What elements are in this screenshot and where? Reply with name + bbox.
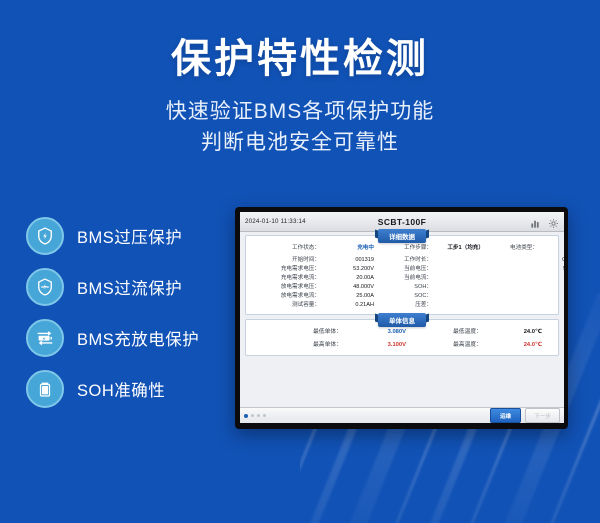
page-subtitle: 快速验证BMS各项保护功能 判断电池安全可靠性 (0, 96, 600, 158)
charge-discharge-icon (26, 319, 64, 357)
feature-item-soh: SOH准确性 (26, 366, 241, 411)
table-row: 测试容量： 0.21AH 压差： 10mV (250, 301, 554, 310)
cell-label: 最低单体： (250, 328, 346, 337)
primary-action-button[interactable]: 运维 (490, 408, 521, 423)
cell-value: 53.200V (324, 265, 376, 274)
cell-value: 工步1（均充） (436, 244, 486, 253)
cell-value: 24.0℃ (486, 328, 544, 337)
cell-label: 充电需求电流： (250, 274, 324, 283)
page-dot-active[interactable] (244, 414, 248, 418)
secondary-action-button[interactable]: 下一步 (525, 408, 560, 423)
cell-value: 30% (542, 292, 564, 301)
cell-info-panel: 单体信息 最低单体： 3.080V 最低温度： 24.0℃ 最高单体： 3.10… (245, 319, 559, 356)
page-indicator[interactable] (244, 414, 266, 418)
cell-value: 20.00A (542, 274, 564, 283)
screen-body: 详细数据 工作状态： 充电中 工作步骤： 工步1（均充） 电池类型： US 开始… (240, 232, 564, 407)
cell-panel-tab[interactable]: 单体信息 (378, 313, 426, 327)
cell-label: 测试容量： (250, 301, 324, 310)
cell-value: 25.00A (324, 292, 376, 301)
device-tablet: 2024-01-10 11:33:14 SCBT-100F (235, 207, 568, 429)
header-icons (530, 216, 559, 227)
cell-value: 3.080V (346, 328, 408, 337)
shield-voltage-icon (26, 217, 64, 255)
detail-panel-tab[interactable]: 详细数据 (378, 229, 426, 243)
cell-label: 电池类型： (486, 244, 542, 253)
cell-label: SOC： (376, 292, 436, 301)
cell-value: US (542, 244, 564, 253)
table-row: 充电需求电流： 20.00A 当前电流： 20.00A (250, 274, 554, 283)
cell-value: 20.00A (324, 274, 376, 283)
table-row: 充电需求电压： 53.200V 当前电压： 53.340V (250, 265, 554, 274)
table-row: 最低单体： 3.080V 最低温度： 24.0℃ (250, 328, 554, 337)
cell-label: 当前电压： (376, 265, 436, 274)
detail-data-panel: 详细数据 工作状态： 充电中 工作步骤： 工步1（均充） 电池类型： US 开始… (245, 235, 559, 315)
table-row: 开始时间： 001319 工作时长： 00:03:54 (250, 256, 554, 265)
table-row: 工作状态： 充电中 工作步骤： 工步1（均充） 电池类型： US (250, 244, 554, 253)
cell-label: 最高单体： (250, 341, 346, 350)
gear-icon[interactable] (548, 216, 559, 227)
cell-label: 最低温度： (408, 328, 486, 337)
cell-label: 放电需求电流： (250, 292, 324, 301)
shield-current-icon (26, 268, 64, 306)
bar-chart-icon[interactable] (530, 216, 541, 227)
table-row: 放电需求电压： 48.000V SOH： 30% (250, 283, 554, 292)
cell-label: 压差： (376, 301, 436, 310)
screen-footer: 运维 下一步 (240, 407, 564, 423)
subtitle-line-2: 判断电池安全可靠性 (0, 127, 600, 158)
feature-item-charge-discharge: BMS充放电保护 (26, 315, 241, 360)
battery-icon (26, 370, 64, 408)
device-model: SCBT-100F (240, 217, 564, 227)
cell-value: 48.000V (324, 283, 376, 292)
cell-label: 工作时长： (376, 256, 436, 265)
device-screen: 2024-01-10 11:33:14 SCBT-100F (240, 212, 564, 423)
feature-list: BMS过压保护 BMS过流保护 (26, 213, 241, 417)
cell-value: 0.21AH (324, 301, 376, 310)
cell-label: SOH： (376, 283, 436, 292)
feature-item-overvoltage: BMS过压保护 (26, 213, 241, 258)
feature-label: BMS过压保护 (77, 224, 182, 248)
cell-value: 53.340V (542, 265, 564, 274)
feature-label: BMS过流保护 (77, 275, 182, 299)
cell-value: 001319 (324, 256, 376, 265)
cell-value: 24.0℃ (486, 341, 544, 350)
page-dot[interactable] (251, 414, 254, 417)
subtitle-line-1: 快速验证BMS各项保护功能 (0, 96, 600, 127)
cell-value: 3.100V (346, 341, 408, 350)
cell-label: 充电需求电压： (250, 265, 324, 274)
page-title: 保护特性检测 (0, 26, 600, 84)
cell-label: 工作状态： (250, 244, 324, 253)
cell-label: 最高温度： (408, 341, 486, 350)
cell-label: 工作步骤： (376, 244, 436, 253)
poster-root: 保护特性检测 快速验证BMS各项保护功能 判断电池安全可靠性 BMS过压保护 (0, 0, 600, 523)
feature-item-overcurrent: BMS过流保护 (26, 264, 241, 309)
cell-value: 00:03:54 (542, 256, 564, 265)
page-dot[interactable] (257, 414, 260, 417)
feature-label: BMS充放电保护 (77, 326, 199, 350)
cell-value: 充电中 (324, 244, 376, 253)
cell-value: 30% (542, 283, 564, 292)
cell-label: 当前电流： (376, 274, 436, 283)
cell-value: 10mV (542, 301, 564, 310)
table-row: 放电需求电流： 25.00A SOC： 30% (250, 292, 554, 301)
cell-label: 开始时间： (250, 256, 324, 265)
feature-label: SOH准确性 (77, 377, 165, 401)
footer-buttons: 运维 下一步 (490, 408, 560, 423)
page-dot[interactable] (263, 414, 266, 417)
table-row: 最高单体： 3.100V 最高温度： 24.0℃ (250, 341, 554, 350)
cell-label: 放电需求电压： (250, 283, 324, 292)
